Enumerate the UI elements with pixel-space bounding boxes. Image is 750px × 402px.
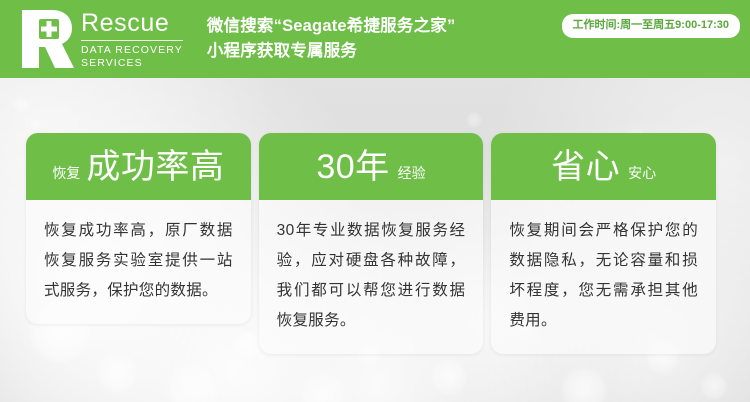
brand-subtitle-line1: DATA RECOVERY [81, 44, 183, 57]
card-header: 恢复 成功率高 [26, 133, 251, 200]
bokeh-dot [12, 96, 30, 114]
rescue-cross-r-logo-icon [22, 10, 74, 68]
brand-wordmark: Rescue [81, 11, 183, 36]
bokeh-dot [30, 118, 42, 130]
business-hours-badge: 工作时间:周一至周五9:00-17:30 [562, 14, 740, 38]
card-header: 30年 经验 [259, 133, 484, 200]
card-body-text: 恢复成功率高，原厂数据恢复服务实验室提供一站式服务，保护您的数据。 [26, 200, 251, 324]
brand-subtitle-line2: SERVICES [81, 57, 183, 70]
bokeh-dot [430, 358, 468, 396]
card-header-title: 省心 [551, 148, 620, 186]
bokeh-dot [700, 372, 728, 400]
bokeh-dot [466, 112, 482, 128]
header-bar: Rescue DATA RECOVERY SERVICES 微信搜索“Seaga… [0, 0, 750, 78]
promo-line-1: 微信搜索“Seagate希捷服务之家” [207, 14, 456, 39]
bokeh-dot [166, 362, 220, 402]
feature-card-success-rate: 恢复 成功率高 恢复成功率高，原厂数据恢复服务实验室提供一站式服务，保护您的数据… [26, 133, 251, 324]
promo-text-block: 微信搜索“Seagate希捷服务之家” 小程序获取专属服务 [207, 14, 456, 64]
card-body-text: 恢复期间会严格保护您的数据隐私，无论容量和损坏程度，您无需承担其他费用。 [491, 200, 716, 354]
card-header: 省心 安心 [491, 133, 716, 200]
feature-card-list: 恢复 成功率高 恢复成功率高，原厂数据恢复服务实验室提供一站式服务，保护您的数据… [26, 133, 716, 354]
brand-wordmark-block: Rescue DATA RECOVERY SERVICES [81, 9, 183, 69]
brand-logo: Rescue DATA RECOVERY SERVICES [22, 9, 183, 69]
bokeh-dot [96, 352, 138, 394]
card-header-title: 成功率高 [86, 148, 224, 186]
card-header-title: 30年 [316, 148, 389, 186]
feature-card-peace-of-mind: 省心 安心 恢复期间会严格保护您的数据隐私，无论容量和损坏程度，您无需承担其他费… [491, 133, 716, 354]
card-header-lead-label: 恢复 [52, 165, 80, 181]
promo-line-2: 小程序获取专属服务 [207, 39, 456, 64]
feature-card-experience: 30年 经验 30年专业数据恢复服务经验，应对硬盘各种故障，我们都可以帮您进行数… [259, 133, 484, 354]
promo-banner: Rescue DATA RECOVERY SERVICES 微信搜索“Seaga… [0, 0, 750, 402]
card-body-text: 30年专业数据恢复服务经验，应对硬盘各种故障，我们都可以帮您进行数据恢复服务。 [259, 200, 484, 354]
bokeh-dot [300, 372, 346, 402]
bokeh-dot [560, 366, 608, 402]
card-header-trail-label: 安心 [628, 165, 656, 181]
brand-divider [81, 40, 183, 41]
card-header-trail-label: 经验 [398, 165, 426, 181]
